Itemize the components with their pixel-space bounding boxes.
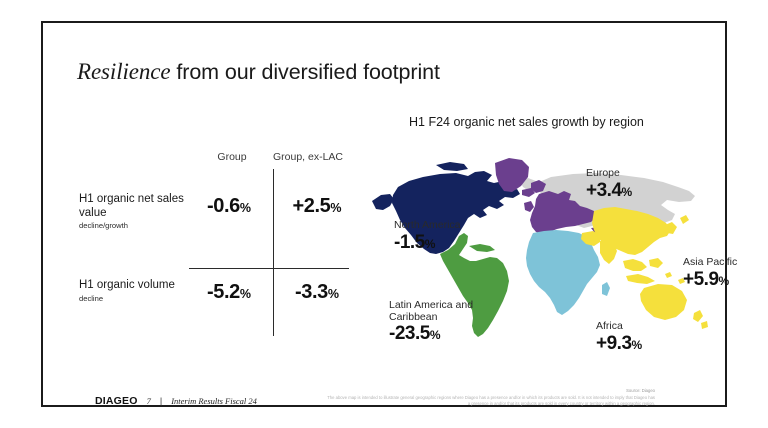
- region-shape-europe-uk: [524, 201, 534, 212]
- map-label-north-america: North America -1.5%: [394, 220, 464, 254]
- map-title: H1 F24 organic net sales growth by regio…: [409, 115, 709, 129]
- table-row-label-sales-value: H1 organic net sales value decline/growt…: [79, 193, 189, 231]
- region-value: +3.4%: [586, 181, 676, 202]
- title-rest: from our diversified footprint: [171, 60, 440, 84]
- map-disclaimer: The above map is intended to illustrate …: [325, 395, 655, 408]
- map-label-africa: Africa +9.3%: [596, 321, 686, 355]
- region-name: North America: [394, 220, 464, 232]
- region-shape-north-america-islands: [436, 162, 468, 171]
- map-label-europe: Europe +3.4%: [586, 168, 676, 202]
- region-shape-new-zealand: [693, 310, 708, 329]
- region-name: Europe: [586, 168, 676, 180]
- page-title: Resilience from our diversified footprin…: [77, 59, 677, 85]
- slide-canvas: Resilience from our diversified footprin…: [41, 21, 727, 407]
- region-value: -23.5%: [389, 324, 509, 345]
- row-label-text: H1 organic net sales value: [79, 193, 184, 219]
- table-col-header-group: Group: [201, 151, 263, 163]
- page-number: 7: [147, 396, 151, 406]
- diageo-logo: DIAGEO: [95, 395, 138, 407]
- cell-value: -5.2: [207, 281, 240, 303]
- table-cell-sales-group: -0.6%: [189, 195, 269, 218]
- region-shape-australia: [640, 284, 687, 320]
- table-cell-volume-group: -5.2%: [189, 281, 269, 304]
- region-value: -1.5%: [394, 233, 464, 254]
- cell-unit: %: [330, 201, 341, 215]
- cell-value: -0.6: [207, 195, 240, 217]
- cell-unit: %: [328, 287, 339, 301]
- region-name: Africa: [596, 321, 686, 333]
- region-shape-caribbean: [469, 244, 495, 252]
- cell-value: -3.3: [295, 281, 328, 303]
- cell-value: +2.5: [292, 195, 330, 217]
- region-shape-sea: [623, 258, 663, 284]
- table-horizontal-divider: [189, 268, 349, 269]
- region-name: Asia Pacific: [683, 257, 768, 269]
- row-label-text: H1 organic volume: [79, 279, 175, 291]
- table-cell-sales-group-ex-lac: +2.5%: [277, 195, 357, 218]
- row-sublabel-text: decline/growth: [79, 221, 189, 231]
- source-note: Source: Diageo: [626, 388, 655, 393]
- region-shape-madagascar: [602, 282, 610, 296]
- footer-separator: |: [160, 396, 162, 406]
- table-row-label-volume: H1 organic volume decline: [79, 279, 189, 304]
- region-shape-pacific-islands: [665, 272, 685, 284]
- cell-unit: %: [240, 287, 251, 301]
- row-sublabel-text: decline: [79, 294, 189, 304]
- region-value: +5.9%: [683, 270, 768, 291]
- table-vertical-divider: [273, 169, 274, 336]
- region-value: +9.3%: [596, 334, 686, 355]
- region-name: Latin America and Caribbean: [389, 300, 509, 323]
- table-cell-volume-group-ex-lac: -3.3%: [277, 281, 357, 304]
- title-emphasis: Resilience: [77, 59, 171, 84]
- map-label-latin-america: Latin America and Caribbean -23.5%: [389, 300, 509, 345]
- metrics-table: Group Group, ex-LAC H1 organic net sales…: [71, 151, 331, 336]
- cell-unit: %: [240, 201, 251, 215]
- footer-note: Interim Results Fiscal 24: [171, 396, 257, 406]
- map-label-asia-pacific: Asia Pacific +5.9%: [683, 257, 768, 291]
- region-shape-north-america-alaska: [372, 194, 394, 210]
- table-col-header-group-ex-lac: Group, ex-LAC: [267, 151, 349, 163]
- slide-footer: DIAGEO 7 | Interim Results Fiscal 24: [95, 395, 257, 407]
